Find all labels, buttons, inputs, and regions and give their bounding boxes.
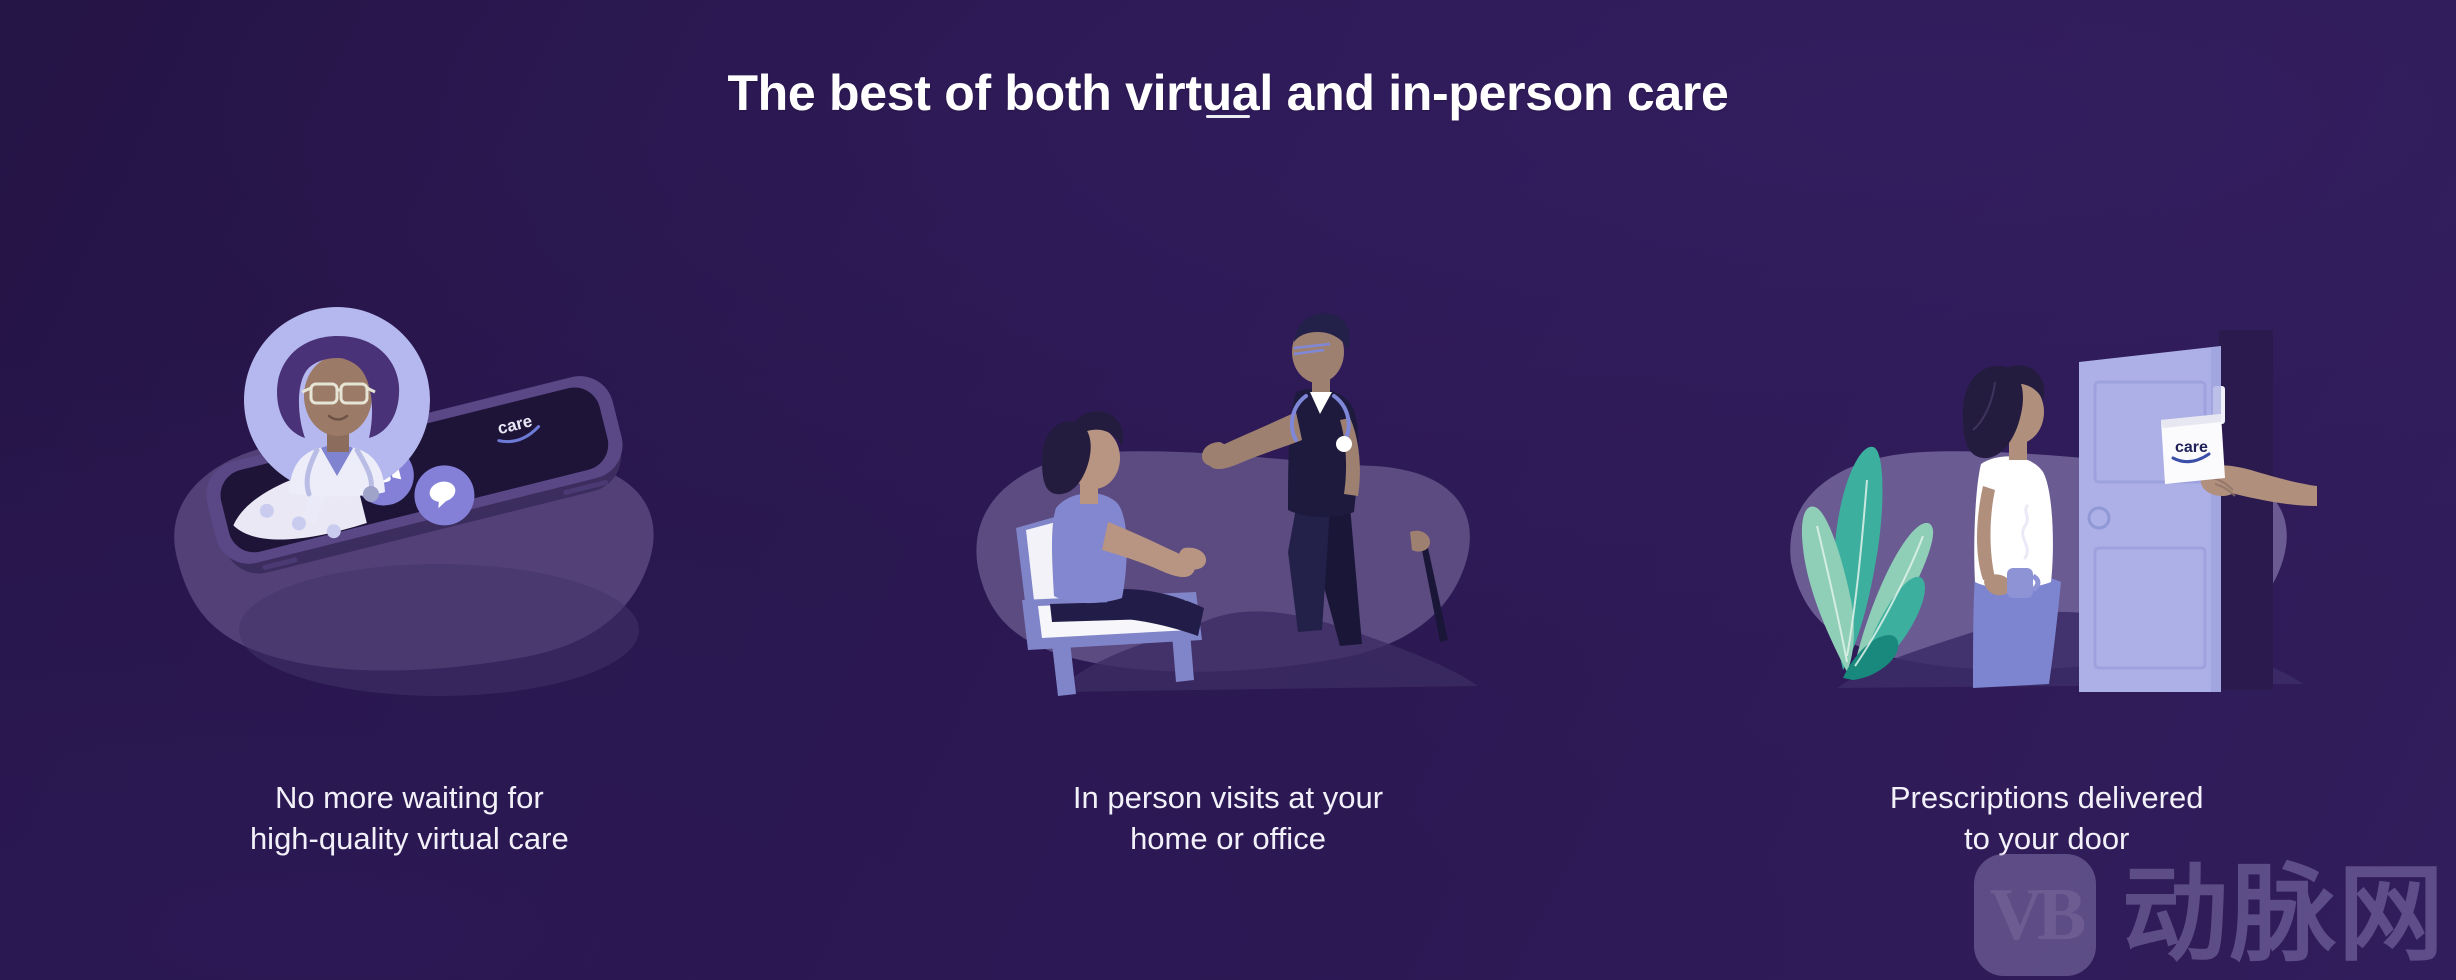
hero-section: The best of both virtual and in-person c… [0,0,2456,980]
title-divider [1206,115,1250,118]
caption-line-2: to your door [1817,819,2277,860]
stethoscope-bell-clinician [1336,436,1352,452]
feature-column-prescriptions: care Prescriptions delivered to your doo… [1637,300,2456,960]
woman-with-mug [1963,365,2061,688]
caption-line-2: home or office [998,819,1458,860]
coffee-mug [2007,568,2033,598]
feature-caption-in-person: In person visits at your home or office [998,778,1458,860]
feature-caption-prescriptions: Prescriptions delivered to your door [1817,778,2277,860]
illustration-doctor-video-call: care [139,300,679,730]
feature-caption-virtual-care: No more waiting for high-quality virtual… [179,778,639,860]
doorway-interior [2219,330,2273,690]
caption-line-1: In person visits at your [998,778,1458,819]
doctor-avatar [277,336,399,502]
care-package-bag: care [2161,414,2225,484]
svg-text:care: care [2175,439,2208,456]
door-panel [2079,346,2221,692]
caption-line-2: high-quality virtual care [179,819,639,860]
feature-column-virtual-care: care [0,300,819,960]
page-title: The best of both virtual and in-person c… [0,64,2456,122]
caption-line-1: Prescriptions delivered [1817,778,2277,819]
illustration-clinician-patient [958,300,1498,730]
feature-columns: care [0,300,2456,960]
open-door [2079,346,2225,692]
stethoscope-bell [363,486,379,502]
feature-column-in-person: In person visits at your home or office [819,300,1638,960]
illustration-door-delivery: care [1777,300,2317,730]
caption-line-1: No more waiting for [179,778,639,819]
door-edge-shadow [2211,346,2221,692]
phone-shadow [239,564,639,696]
